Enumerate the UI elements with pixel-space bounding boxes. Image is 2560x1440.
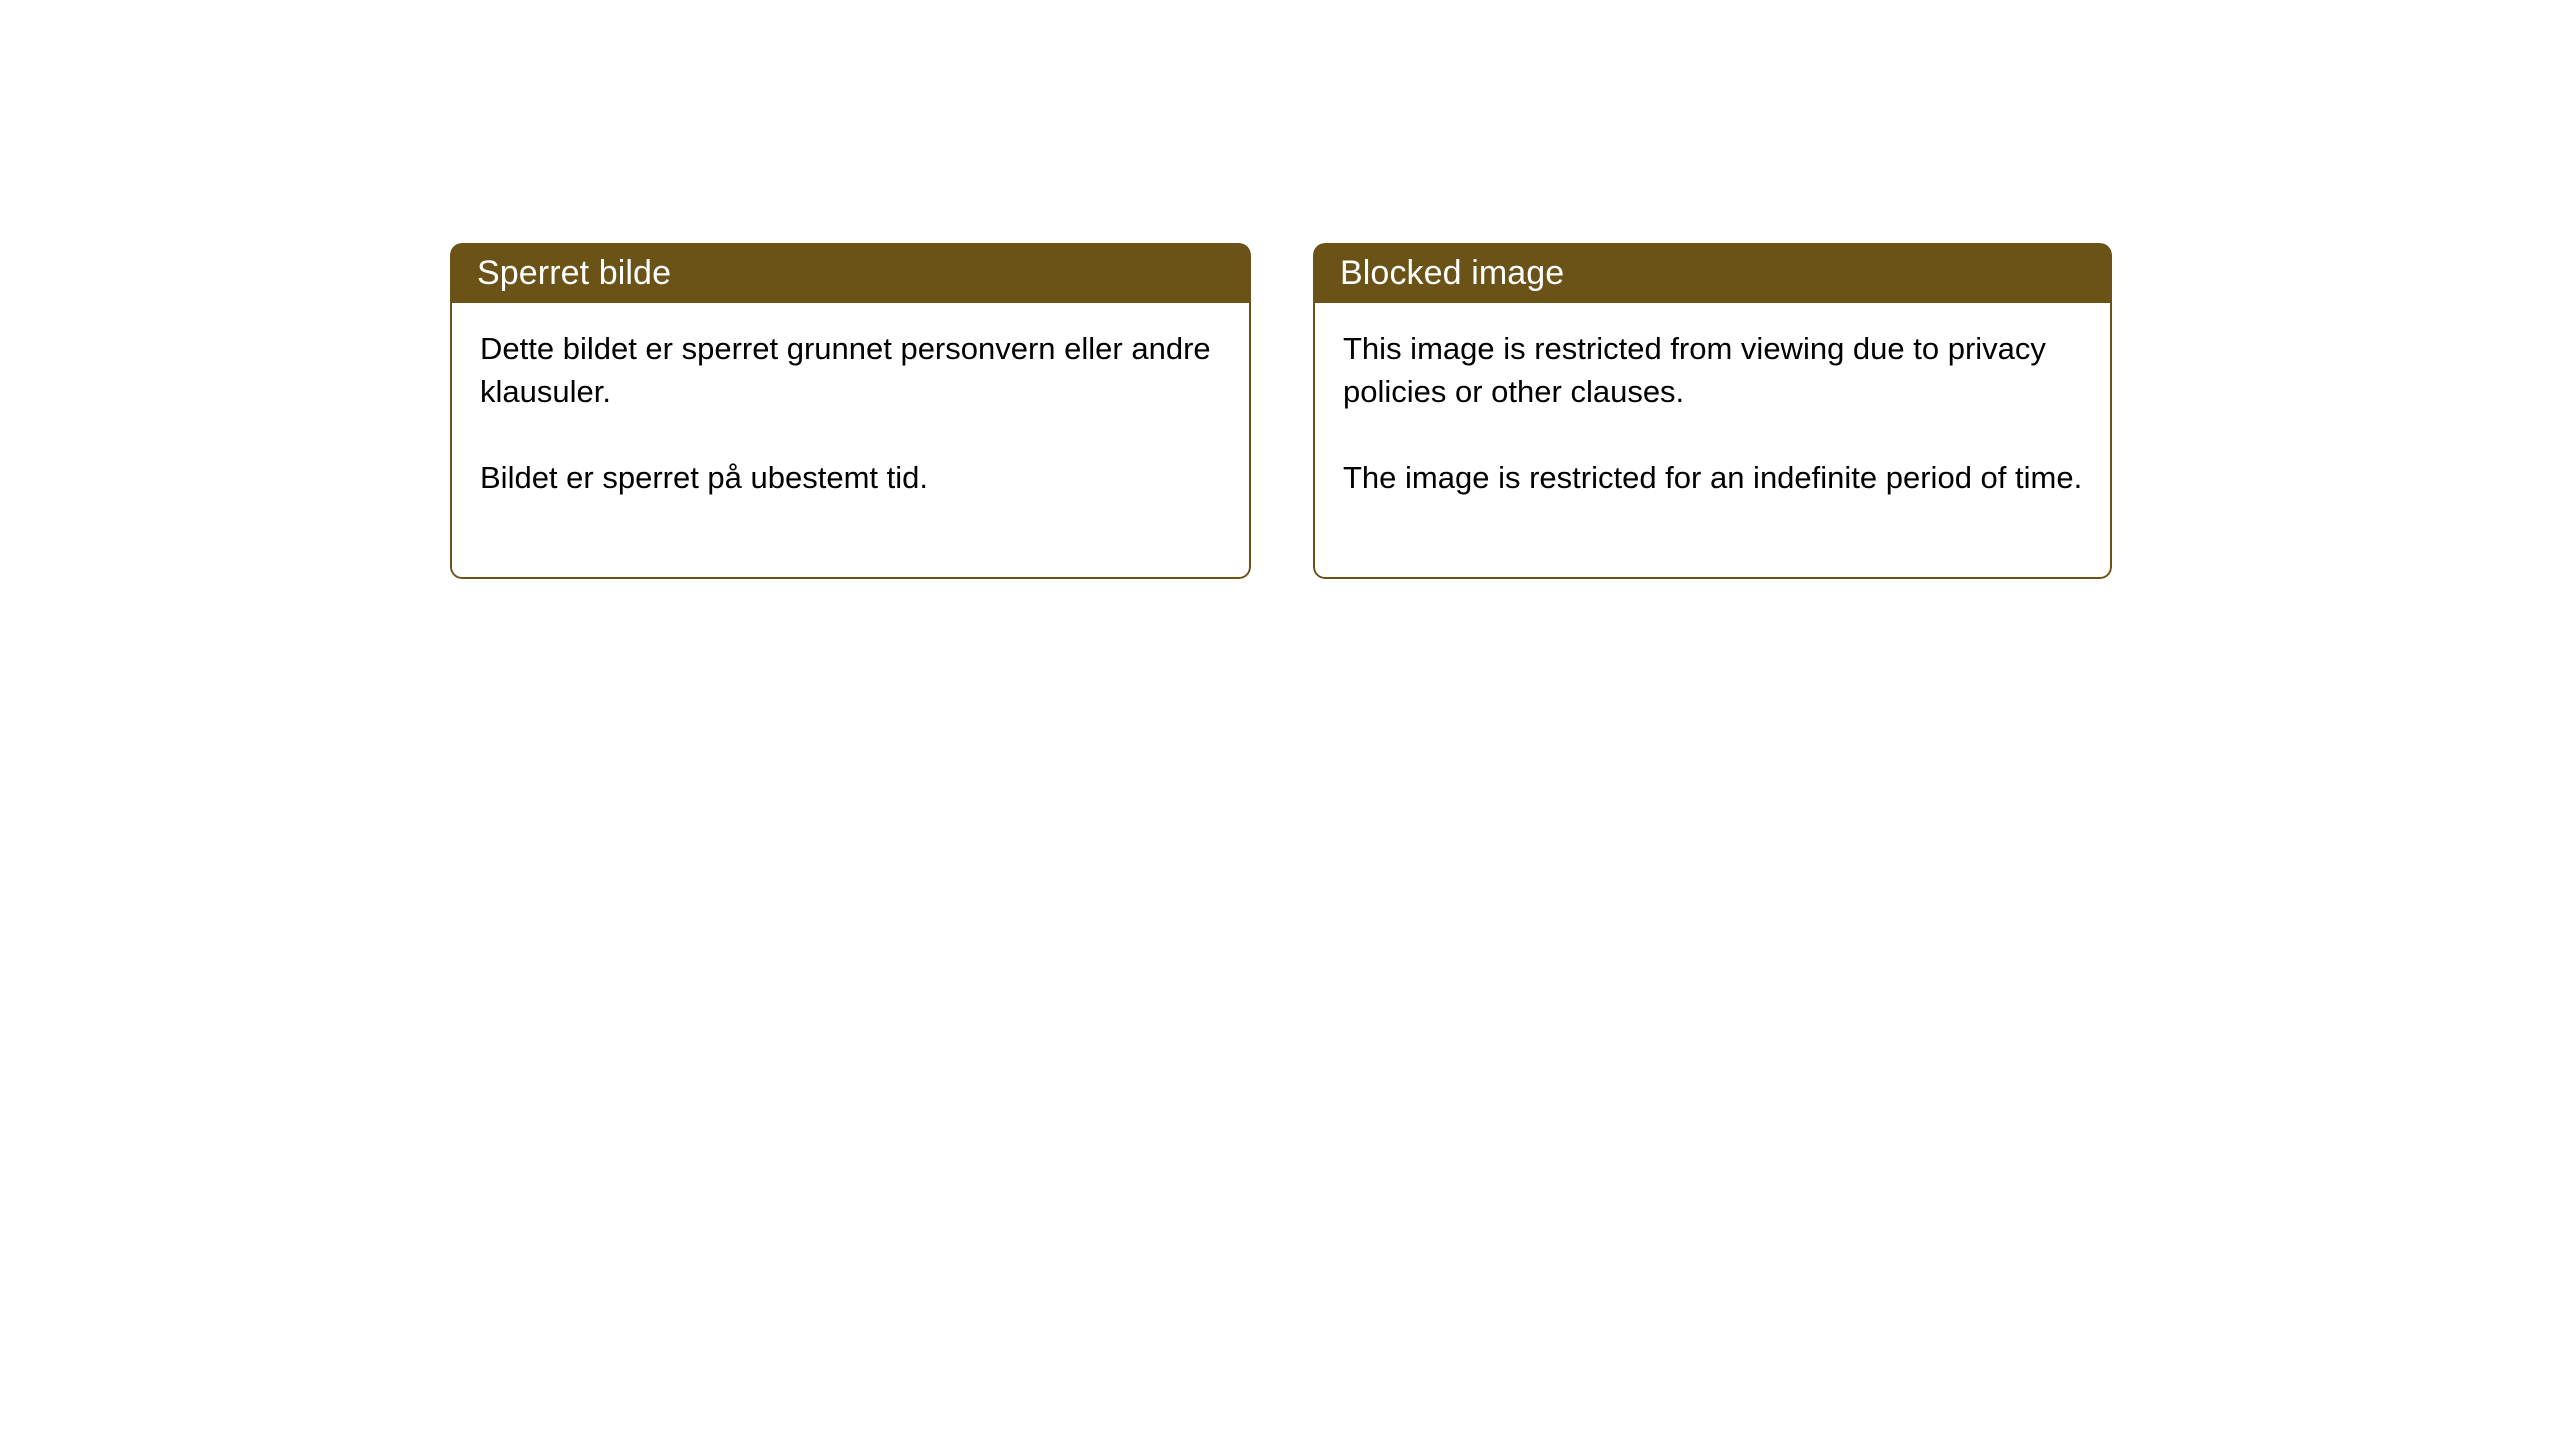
card-paragraph-en-1: This image is restricted from viewing du…	[1343, 327, 2084, 413]
card-paragraph-no-2: Bildet er sperret på ubestemt tid.	[480, 456, 1223, 499]
blocked-image-notice-card-no: Sperret bilde Dette bildet er sperret gr…	[450, 243, 1251, 579]
card-title-no: Sperret bilde	[477, 256, 671, 290]
card-header-en: Blocked image	[1313, 243, 2112, 303]
card-paragraph-en-2: The image is restricted for an indefinit…	[1343, 456, 2084, 499]
card-title-en: Blocked image	[1340, 256, 1564, 290]
blocked-image-notice-card-en: Blocked image This image is restricted f…	[1313, 243, 2112, 579]
card-body-no: Dette bildet er sperret grunnet personve…	[450, 303, 1251, 579]
card-header-no: Sperret bilde	[450, 243, 1251, 303]
card-body-en: This image is restricted from viewing du…	[1313, 303, 2112, 579]
card-paragraph-no-1: Dette bildet er sperret grunnet personve…	[480, 327, 1223, 413]
page-root: Sperret bilde Dette bildet er sperret gr…	[0, 0, 2560, 1440]
